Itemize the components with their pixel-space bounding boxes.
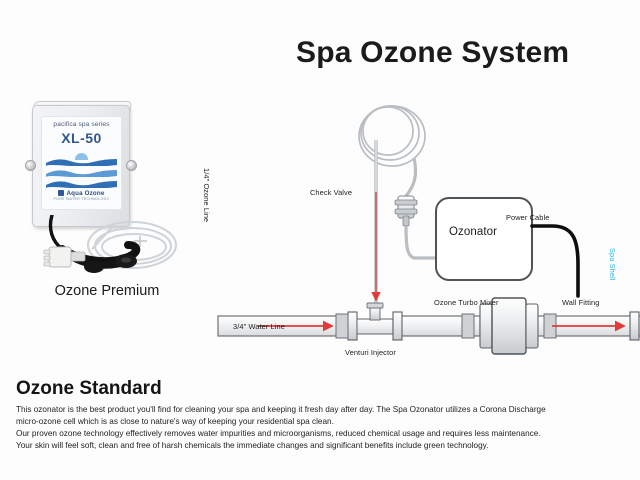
body-paragraph-4: Your skin will feel soft, clean and free… xyxy=(16,440,628,451)
mounting-screw-left-icon xyxy=(25,160,36,171)
product-photo-caption: Ozone Premium xyxy=(22,283,192,299)
mounting-screw-right-icon xyxy=(126,160,137,171)
label-ozone-line: 1/4" Ozone Line xyxy=(202,168,211,222)
body-paragraph-2: micro-ozone cell which is as close to na… xyxy=(16,416,628,427)
device-brand-logo: Aqua Ozone PURE WATER TECHNOLOGY xyxy=(42,190,121,201)
label-turbo-mixer: Ozone Turbo Mixer xyxy=(434,298,499,307)
system-diagram: 1/4" Ozone Line Check Valve Ozonator Pow… xyxy=(200,100,640,370)
ozonator-box xyxy=(436,198,532,280)
wave-graphic-2 xyxy=(46,168,117,176)
label-power-cable: Power Cable xyxy=(506,213,549,222)
device-brand-name: Aqua Ozone xyxy=(66,190,104,197)
brand-mark-icon xyxy=(58,190,64,196)
page-root: Spa Ozone System pacifica spa series XL-… xyxy=(0,0,640,480)
body-paragraph-1: This ozonator is the best product you'll… xyxy=(16,404,628,415)
power-cord-and-tubing-photo xyxy=(22,215,192,281)
spa-shell-graphic xyxy=(634,240,640,370)
label-wall-fitting: Wall Fitting xyxy=(562,298,599,307)
check-valve-graphic xyxy=(395,196,417,226)
wave-graphic-3 xyxy=(46,179,117,187)
device-label-model: XL-50 xyxy=(42,130,121,146)
ozone-tubing-coil xyxy=(359,106,425,166)
tube-valve-to-ozonator xyxy=(406,226,436,258)
label-check-valve: Check Valve xyxy=(310,188,352,197)
body-paragraph-3: Our proven ozone technology effectively … xyxy=(16,428,628,439)
page-title: Spa Ozone System xyxy=(296,36,569,70)
device-label-series: pacifica spa series xyxy=(42,121,121,128)
body-copy: This ozonator is the best product you'll… xyxy=(16,404,628,452)
label-ozonator: Ozonator xyxy=(449,226,497,238)
product-photo: pacifica spa series XL-50 Aqua Ozone xyxy=(22,97,192,272)
power-cable-graphic xyxy=(532,226,578,296)
section-heading: Ozone Standard xyxy=(16,378,162,400)
tube-to-check-valve xyxy=(406,158,416,196)
label-spa-shell: Spa Shell xyxy=(608,248,617,281)
label-venturi-injector: Venturi Injector xyxy=(345,348,396,357)
label-water-line: 3/4" Water Line xyxy=(233,322,285,331)
device-label: pacifica spa series XL-50 Aqua Ozone xyxy=(41,116,122,210)
device-brand-tagline: PURE WATER TECHNOLOGY xyxy=(42,197,121,201)
wave-graphic-1 xyxy=(46,157,117,165)
